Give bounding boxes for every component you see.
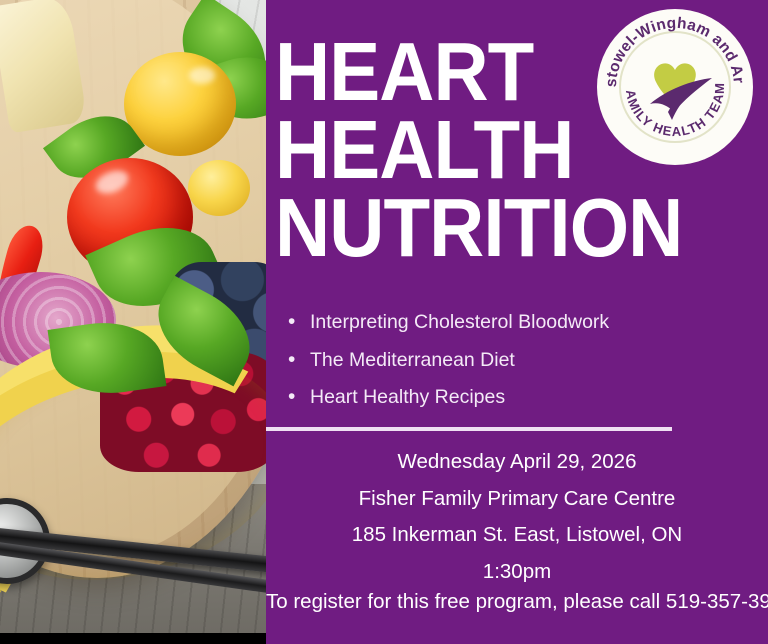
list-item: Heart Healthy Recipes	[286, 388, 746, 408]
title-line-heart: HEART	[275, 33, 707, 111]
poster-title: HEART HEALTH NUTRITION	[275, 33, 745, 267]
heart-health-nutrition-poster: Listowel-Wingham and Area FAMILY HEALTH …	[0, 0, 768, 644]
yellow-tomato-small	[188, 160, 250, 216]
content-panel: Listowel-Wingham and Area FAMILY HEALTH …	[266, 0, 768, 644]
event-date: Wednesday April 29, 2026	[266, 452, 768, 473]
title-line-health: HEALTH	[275, 111, 707, 189]
registration-note: To register for this free program, pleas…	[266, 592, 768, 613]
photo-bottom-bar	[0, 633, 267, 644]
list-item: Interpreting Cholesterol Bloodwork	[286, 313, 746, 333]
produce-photo	[0, 0, 267, 644]
topic-list: Interpreting Cholesterol Bloodwork The M…	[286, 313, 746, 426]
event-address: 185 Inkerman St. East, Listowel, ON	[266, 525, 768, 546]
event-time: 1:30pm	[266, 562, 768, 583]
event-venue: Fisher Family Primary Care Centre	[266, 489, 768, 510]
divider	[266, 427, 672, 431]
list-item: The Mediterranean Diet	[286, 351, 746, 371]
event-details: Wednesday April 29, 2026 Fisher Family P…	[266, 452, 768, 598]
title-line-nutrition: NUTRITION	[275, 189, 707, 267]
